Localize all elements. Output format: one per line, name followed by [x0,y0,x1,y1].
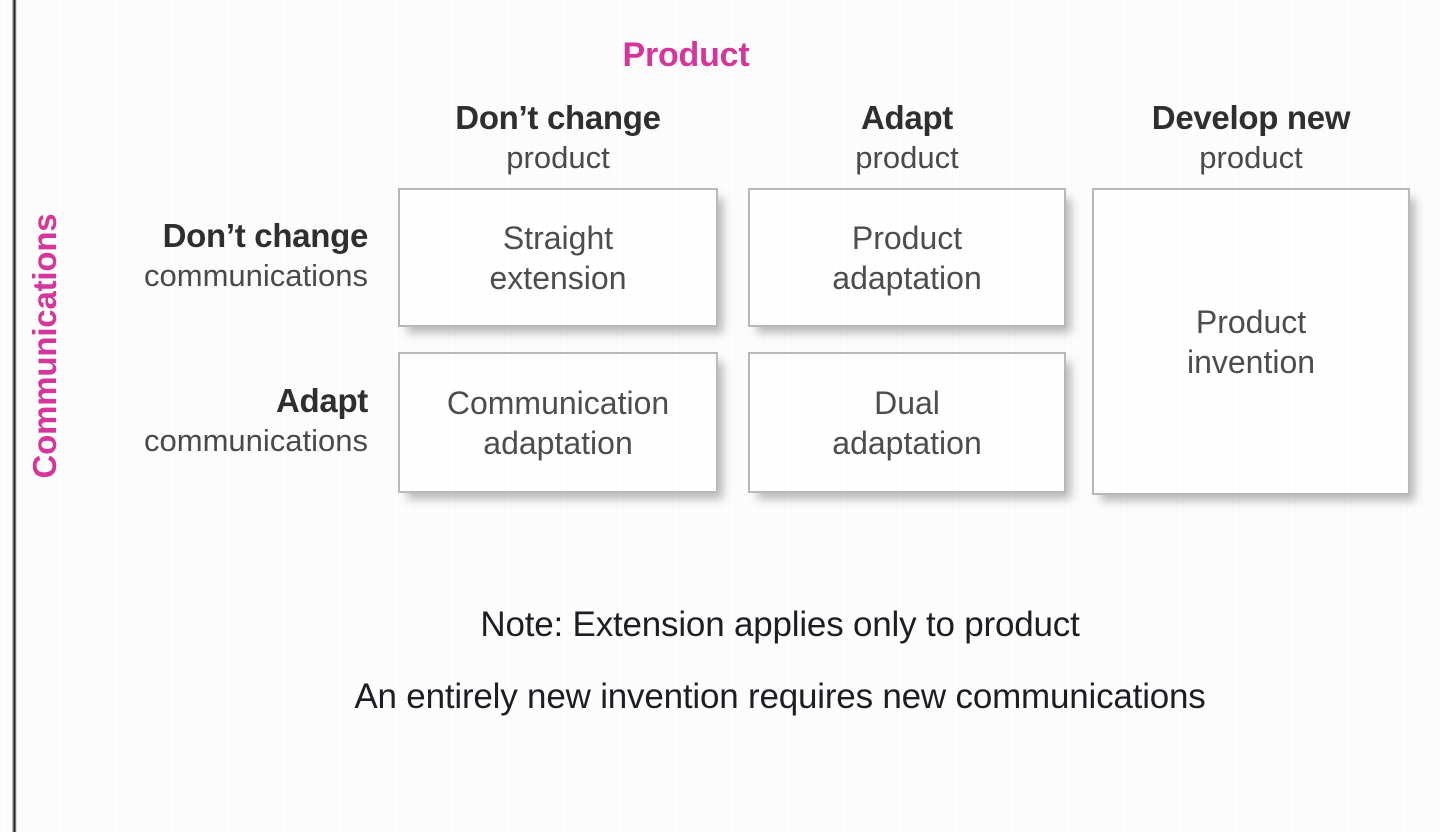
column-header-title: Adapt [748,100,1066,136]
diagram-note: Note: Extension applies only to product … [230,600,1330,721]
matrix-cell-communication-adaptation: Communication adaptation [398,352,718,493]
product-communication-matrix-diagram: Product Communications Don’t change prod… [0,0,1440,832]
cell-label: Product invention [1177,302,1325,382]
cell-label-line-2: adaptation [832,260,981,296]
note-line-2: An entirely new invention requires new c… [230,672,1330,722]
cell-label-line-2: adaptation [483,425,632,461]
cell-label-line-1: Product [852,220,962,256]
column-header-subtitle: product [748,141,1066,174]
cell-label-line-1: Communication [447,385,669,421]
cell-label-line-1: Dual [874,385,940,421]
column-header-title: Develop new [1092,100,1410,136]
cell-label-line-2: invention [1187,344,1315,380]
matrix-cell-product-invention: Product invention [1092,188,1410,495]
cell-label: Communication adaptation [437,383,679,463]
column-header-dont-change-product: Don’t change product [398,100,718,174]
matrix-cell-product-adaptation: Product adaptation [748,188,1066,327]
row-header-adapt-communications: Adapt communications [68,383,368,458]
product-axis-title: Product [0,36,1406,75]
row-header-subtitle: communications [68,424,368,458]
cell-label-line-1: Product [1196,304,1306,340]
row-header-title: Don’t change [68,218,368,254]
cell-label-line-2: adaptation [832,425,981,461]
cell-label: Dual adaptation [822,383,991,463]
matrix-cell-straight-extension: Straight extension [398,188,718,327]
column-header-subtitle: product [398,141,718,174]
column-header-title: Don’t change [398,100,718,136]
cell-label-line-2: extension [490,260,627,296]
cell-label: Product adaptation [822,218,991,298]
communications-axis-title: Communications [26,196,64,496]
cell-label-line-1: Straight [503,220,613,256]
cell-label: Straight extension [480,218,637,298]
left-axis-rule [12,0,17,832]
row-header-dont-change-communications: Don’t change communications [68,218,368,293]
column-header-develop-new-product: Develop new product [1092,100,1410,174]
row-header-subtitle: communications [68,259,368,293]
column-header-subtitle: product [1092,141,1410,174]
row-header-title: Adapt [68,383,368,419]
column-header-adapt-product: Adapt product [748,100,1066,174]
note-line-1: Note: Extension applies only to product [230,600,1330,650]
matrix-cell-dual-adaptation: Dual adaptation [748,352,1066,493]
